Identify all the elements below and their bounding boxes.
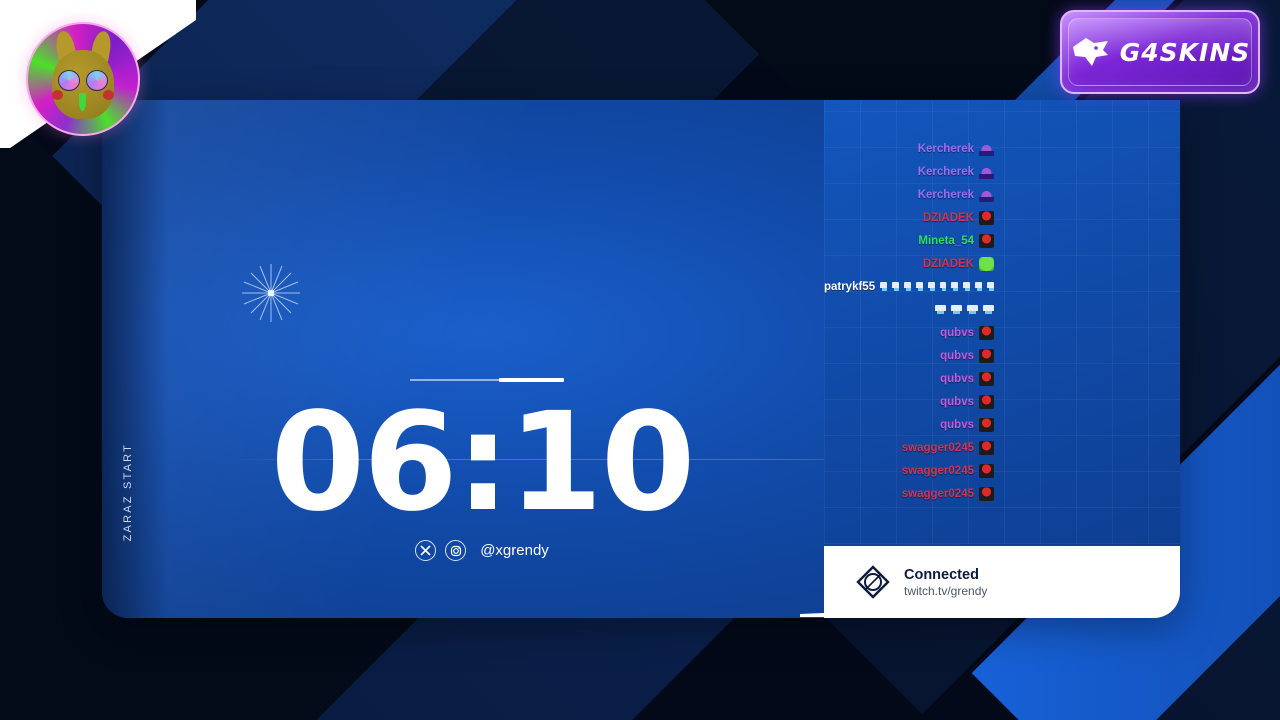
chat-emote-small-icon — [951, 305, 962, 315]
chat-message: qubvs — [824, 393, 994, 410]
chat-username: qubvs — [940, 327, 974, 339]
chat-emote-small-icon — [880, 282, 887, 292]
avatar-ring — [26, 22, 140, 136]
chat-username: swagger0245 — [902, 488, 974, 500]
chat-emote-redface-icon — [979, 418, 994, 432]
social-row: @xgrendy — [102, 540, 862, 561]
chat-username: Kercherek — [918, 166, 974, 178]
chat-username: Mineta_54 — [918, 235, 974, 247]
chat-username: qubvs — [940, 350, 974, 362]
chat-username: DZIADEK — [923, 258, 974, 270]
chat-emote-redface-icon — [979, 372, 994, 386]
chat-emote-small-icon — [983, 305, 994, 315]
diamond-link-icon — [856, 565, 890, 599]
chat-emote-small-icon — [940, 282, 947, 292]
chat-emote-redface-icon — [979, 395, 994, 409]
chat-username: DZIADEK — [923, 212, 974, 224]
chat-username: qubvs — [940, 396, 974, 408]
chat-username: qubvs — [940, 419, 974, 431]
chat-emote-small-icon — [987, 282, 994, 292]
chat-panel: KercherekKercherekKercherekDZIADEKMineta… — [824, 100, 1180, 544]
chat-emote-small-icon — [916, 282, 923, 292]
chat-username: qubvs — [940, 373, 974, 385]
connection-status: Connected — [904, 567, 987, 583]
chat-emote-redface-icon — [979, 487, 994, 501]
channel-url: twitch.tv/grendy — [904, 584, 987, 598]
chat-username: Kercherek — [918, 189, 974, 201]
timer-block: 06:10 @xgrendy — [102, 100, 862, 618]
chat-username: swagger0245 — [902, 442, 974, 454]
chat-emote-small-icon — [975, 282, 982, 292]
avatar — [26, 22, 140, 136]
chat-message: qubvs — [824, 416, 994, 433]
connection-texts: Connected twitch.tv/grendy — [904, 567, 987, 598]
chat-emote-green-icon — [979, 257, 994, 271]
chat-emote-small-icon — [967, 305, 978, 315]
chat-emote-small-icon — [963, 282, 970, 292]
bunny-icon — [28, 24, 138, 134]
chat-emote-small-icon — [951, 282, 958, 292]
standby-label: ZARAZ START — [122, 443, 134, 541]
chat-emote-small-icon — [892, 282, 899, 292]
wolf-head-icon — [1070, 35, 1112, 69]
chat-emote-ship-icon — [979, 165, 994, 179]
chat-emote-redface-icon — [979, 326, 994, 340]
logo-text: G4SKINS — [1120, 38, 1251, 67]
chat-message: DZIADEK — [824, 209, 994, 226]
chat-message: Kercherek — [824, 163, 994, 180]
connection-status-bar: Connected twitch.tv/grendy — [824, 546, 1180, 618]
chat-emote-ship-icon — [979, 142, 994, 156]
progress-bar — [410, 378, 564, 382]
chat-message: Mineta_54 — [824, 232, 994, 249]
chat-username: patrykf55 — [824, 281, 875, 293]
chat-emote-ship-icon — [979, 188, 994, 202]
chat-username: swagger0245 — [902, 465, 974, 477]
chat-message: Kercherek — [824, 140, 994, 157]
instagram-icon[interactable] — [445, 540, 466, 561]
chat-emote-small-icon — [928, 282, 935, 292]
chat-emote-small-icon — [935, 305, 946, 315]
chat-message: swagger0245 — [824, 485, 994, 502]
chat-emote-redface-icon — [979, 441, 994, 455]
chat-emote-small-icon — [904, 282, 911, 292]
chat-emote-redface-icon — [979, 234, 994, 248]
chat-message: qubvs — [824, 347, 994, 364]
chat-username: Kercherek — [918, 143, 974, 155]
chat-message: swagger0245 — [824, 439, 994, 456]
countdown-timer: 06:10 — [102, 395, 862, 531]
chat-message: DZIADEK — [824, 255, 994, 272]
chat-message-list: KercherekKercherekKercherekDZIADEKMineta… — [824, 140, 1180, 502]
chat-message: patrykf55 — [824, 278, 994, 295]
chat-emote-redface-icon — [979, 349, 994, 363]
chat-emote-redface-icon — [979, 464, 994, 478]
chat-message: Kercherek — [824, 186, 994, 203]
social-handle: @xgrendy — [480, 542, 549, 559]
chat-message: qubvs — [824, 324, 994, 341]
progress-fill — [499, 378, 564, 382]
chat-message: swagger0245 — [824, 462, 994, 479]
g4skins-logo: G4SKINS — [1060, 10, 1260, 94]
chat-message — [824, 301, 994, 318]
chat-emote-redface-icon — [979, 211, 994, 225]
x-icon[interactable] — [415, 540, 436, 561]
chat-message: qubvs — [824, 370, 994, 387]
